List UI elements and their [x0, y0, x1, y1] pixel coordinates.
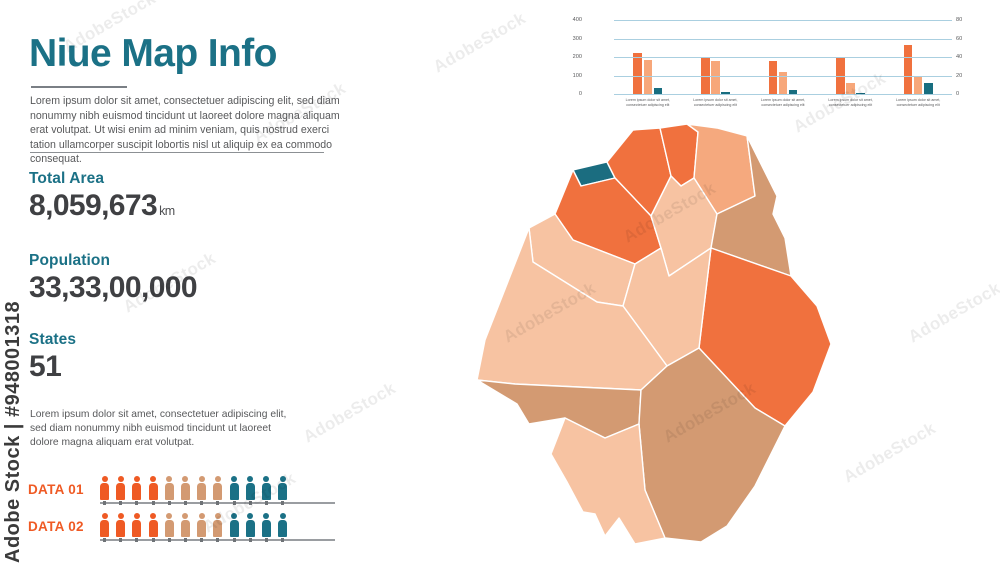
stat-unit-total-area: km: [159, 204, 174, 218]
chart-right-axis-tick: 60: [956, 36, 978, 42]
chart-right-axis-tick: 80: [956, 17, 978, 23]
pictogram-figures: [100, 476, 287, 500]
stat-number-total-area: 8,059,673: [29, 189, 157, 222]
chart-right-axis-tick: 0: [956, 91, 978, 97]
chart-left-axis-tick: 100: [560, 73, 582, 79]
pictogram-ticks: [100, 501, 287, 506]
stat-population: Population 33,33,00,000: [29, 252, 197, 305]
person-icon: [230, 476, 239, 500]
person-icon: [213, 513, 222, 537]
chart-bar-group: [904, 45, 933, 94]
chart-left-axis-tick: 300: [560, 36, 582, 42]
stat-label-population: Population: [29, 252, 197, 270]
chart-bar: [644, 60, 653, 94]
chart-category-label: Lorem ipsum dolor sit amet, consectetuer…: [685, 98, 745, 114]
chart-bar: [846, 83, 855, 94]
chart-bar-group: [769, 61, 798, 94]
stat-label-total-area: Total Area: [29, 170, 175, 188]
chart-bar: [904, 45, 913, 94]
person-icon: [246, 513, 255, 537]
person-icon: [116, 476, 125, 500]
person-icon: [246, 476, 255, 500]
person-icon: [100, 513, 109, 537]
chart-bar: [633, 53, 642, 94]
person-icon: [181, 476, 190, 500]
person-icon: [100, 476, 109, 500]
chart-category-label: Lorem ipsum dolor sit amet, consectetuer…: [821, 98, 881, 114]
person-icon: [149, 476, 158, 500]
chart-left-axis-tick: 400: [560, 17, 582, 23]
person-icon: [132, 476, 141, 500]
watermark-tile: AdobeStock: [430, 8, 529, 77]
person-icon: [132, 513, 141, 537]
pictogram-row-label: DATA 01: [28, 482, 84, 497]
page-title: Niue Map Info: [29, 32, 277, 76]
stat-value-total-area: 8,059,673km: [29, 189, 175, 223]
map-region-r12: [477, 380, 641, 438]
person-icon: [262, 476, 271, 500]
left-info-panel: Niue Map Info Lorem ipsum dolor sit amet…: [0, 0, 360, 563]
watermark-tile: AdobeStock: [905, 278, 1000, 347]
watermark-sidebar: Adobe Stock | #948001318: [2, 301, 25, 563]
chart-plot-area: [614, 20, 952, 94]
stat-total-area: Total Area 8,059,673km: [29, 170, 175, 223]
person-icon: [278, 513, 287, 537]
bar-chart: Lorem ipsum dolor sit amet, consectetuer…: [586, 14, 990, 114]
chart-gridline: [614, 39, 952, 40]
chart-left-axis-tick: 0: [560, 91, 582, 97]
chart-category-labels: Lorem ipsum dolor sit amet, consectetuer…: [614, 98, 952, 114]
person-icon: [213, 476, 222, 500]
chart-right-axis-tick: 20: [956, 73, 978, 79]
intro-paragraph: Lorem ipsum dolor sit amet, consectetuer…: [30, 94, 340, 167]
intro-divider: [30, 152, 324, 153]
chart-category-label: Lorem ipsum dolor sit amet, consectetuer…: [618, 98, 678, 114]
person-icon: [116, 513, 125, 537]
stat-value-population: 33,33,00,000: [29, 271, 197, 305]
chart-bar: [711, 61, 720, 94]
stat-states: States 51: [29, 331, 76, 384]
stat-value-states: 51: [29, 350, 76, 384]
chart-gridline: [614, 94, 952, 95]
pictogram-chart: DATA 01DATA 02: [28, 476, 348, 550]
chart-gridline: [614, 76, 952, 77]
person-icon: [149, 513, 158, 537]
person-icon: [230, 513, 239, 537]
chart-bar: [914, 76, 923, 95]
chart-left-axis-tick: 200: [560, 54, 582, 60]
person-icon: [165, 513, 174, 537]
person-icon: [165, 476, 174, 500]
pictogram-row: DATA 02: [28, 513, 348, 543]
title-underline: [31, 86, 127, 88]
niue-map: [455, 118, 875, 548]
map-svg: [455, 118, 875, 548]
chart-category-label: Lorem ipsum dolor sit amet, consectetuer…: [753, 98, 813, 114]
chart-right-axis-tick: 40: [956, 54, 978, 60]
map-regions: [477, 124, 831, 544]
pictogram-row: DATA 01: [28, 476, 348, 506]
pictogram-ticks: [100, 538, 287, 543]
pictogram-row-label: DATA 02: [28, 519, 84, 534]
person-icon: [181, 513, 190, 537]
stat-label-states: States: [29, 331, 76, 349]
chart-gridline: [614, 57, 952, 58]
person-icon: [197, 476, 206, 500]
pictogram-figures: [100, 513, 287, 537]
person-icon: [262, 513, 271, 537]
chart-gridline: [614, 20, 952, 21]
chart-bar-group: [633, 53, 662, 94]
chart-bar: [769, 61, 778, 94]
person-icon: [278, 476, 287, 500]
person-icon: [197, 513, 206, 537]
chart-category-label: Lorem ipsum dolor sit amet, consectetuer…: [888, 98, 948, 114]
footer-paragraph: Lorem ipsum dolor sit amet, consectetuer…: [30, 408, 298, 450]
chart-bar: [924, 83, 933, 94]
